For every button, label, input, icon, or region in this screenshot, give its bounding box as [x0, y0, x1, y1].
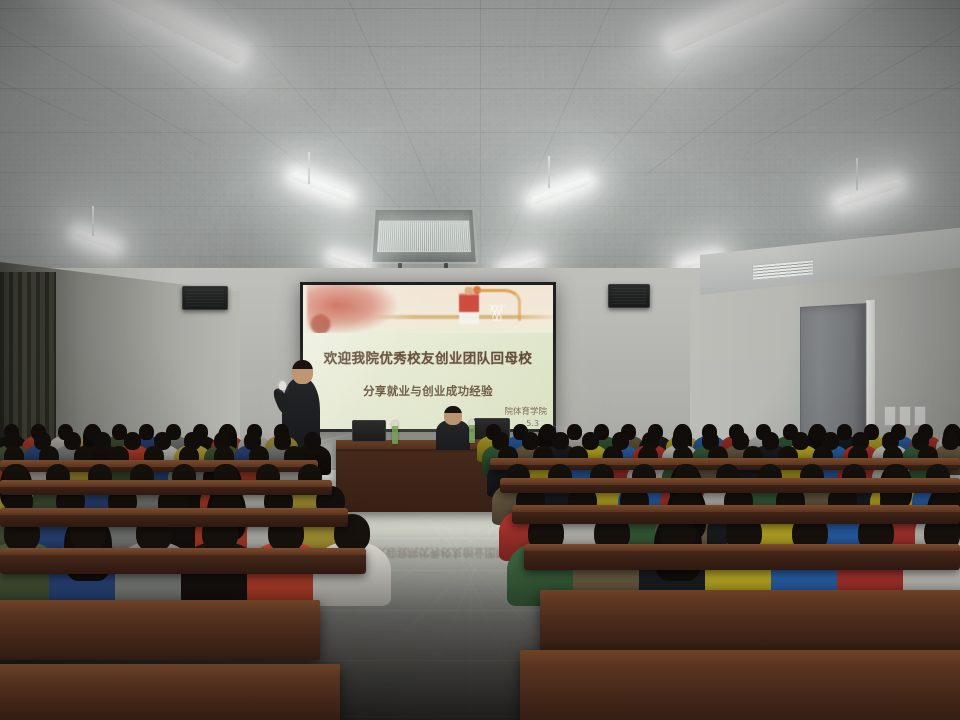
light-hanger-rod — [92, 206, 94, 236]
audience-member-head — [762, 432, 779, 450]
audience-member-head — [552, 432, 569, 450]
bench-seat-back[interactable] — [0, 480, 332, 495]
light-hanger-rod — [548, 156, 550, 188]
slide-subtitle: 分享就业与创业成功经验 — [303, 383, 553, 399]
presenter-head — [292, 360, 313, 384]
wall-speaker-left — [182, 286, 228, 310]
bench-seat-back[interactable] — [524, 544, 960, 570]
wooden-desk[interactable] — [0, 600, 320, 660]
audience-member-head — [837, 424, 852, 440]
projector-grille — [377, 220, 471, 252]
microphone-icon — [279, 381, 286, 390]
light-hanger-rod — [308, 152, 310, 184]
bench-seat-back[interactable] — [500, 478, 960, 493]
audience-member-head — [304, 432, 321, 450]
wooden-desk[interactable] — [540, 590, 960, 654]
wooden-desk[interactable] — [520, 650, 960, 720]
wall-speaker-right — [608, 284, 650, 308]
projection-screen: 欢迎我院优秀校友创业团队回母校 分享就业与创业成功经验 院体育学院 5.3 — [303, 285, 553, 429]
water-bottle-left — [392, 421, 398, 444]
audience-member-head — [124, 432, 141, 450]
projection-screen-frame: 欢迎我院优秀校友创业团队回母校 分享就业与创业成功经验 院体育学院 5.3 — [300, 282, 556, 432]
audience-member-head — [94, 432, 111, 450]
bench-seat-back[interactable] — [512, 505, 960, 524]
basketball-player-icon — [307, 285, 403, 333]
audience-member-head — [567, 424, 582, 440]
audience-member-head — [942, 432, 959, 450]
water-bottle-right — [469, 420, 475, 443]
light-switch-panel[interactable] — [884, 406, 926, 426]
switch-2[interactable] — [899, 406, 911, 426]
table-monitor-left — [352, 420, 386, 442]
projector-recess — [370, 208, 478, 264]
light-hanger-rod — [856, 158, 858, 190]
bench-rail — [0, 508, 348, 515]
bench-rail — [0, 548, 366, 555]
ceiling-line — [480, 0, 481, 292]
seated-host-head — [444, 406, 462, 425]
bench-rail — [524, 544, 960, 551]
slide-title: 欢迎我院优秀校友创业团队回母校 — [303, 347, 553, 367]
audience-member-head — [139, 424, 154, 440]
slide-banner-image — [303, 285, 553, 333]
basketball-shooter-icon — [459, 287, 479, 331]
audience-member-head — [792, 432, 809, 450]
audience-member-head — [582, 432, 599, 450]
bench-seat-back[interactable] — [0, 508, 348, 527]
bench-rail — [0, 480, 332, 487]
bench-rail — [512, 505, 960, 512]
switch-1[interactable] — [884, 406, 896, 426]
wooden-desk[interactable] — [0, 664, 340, 720]
switch-3[interactable] — [914, 406, 926, 426]
bench-rail — [500, 478, 960, 485]
bench-seat-back[interactable] — [0, 548, 366, 574]
court-line — [363, 315, 553, 319]
lecture-hall-photo: 欢迎我院优秀校友创业团队回母校 分享就业与创业成功经验 院体育学院 5.3 欢迎… — [0, 0, 960, 720]
